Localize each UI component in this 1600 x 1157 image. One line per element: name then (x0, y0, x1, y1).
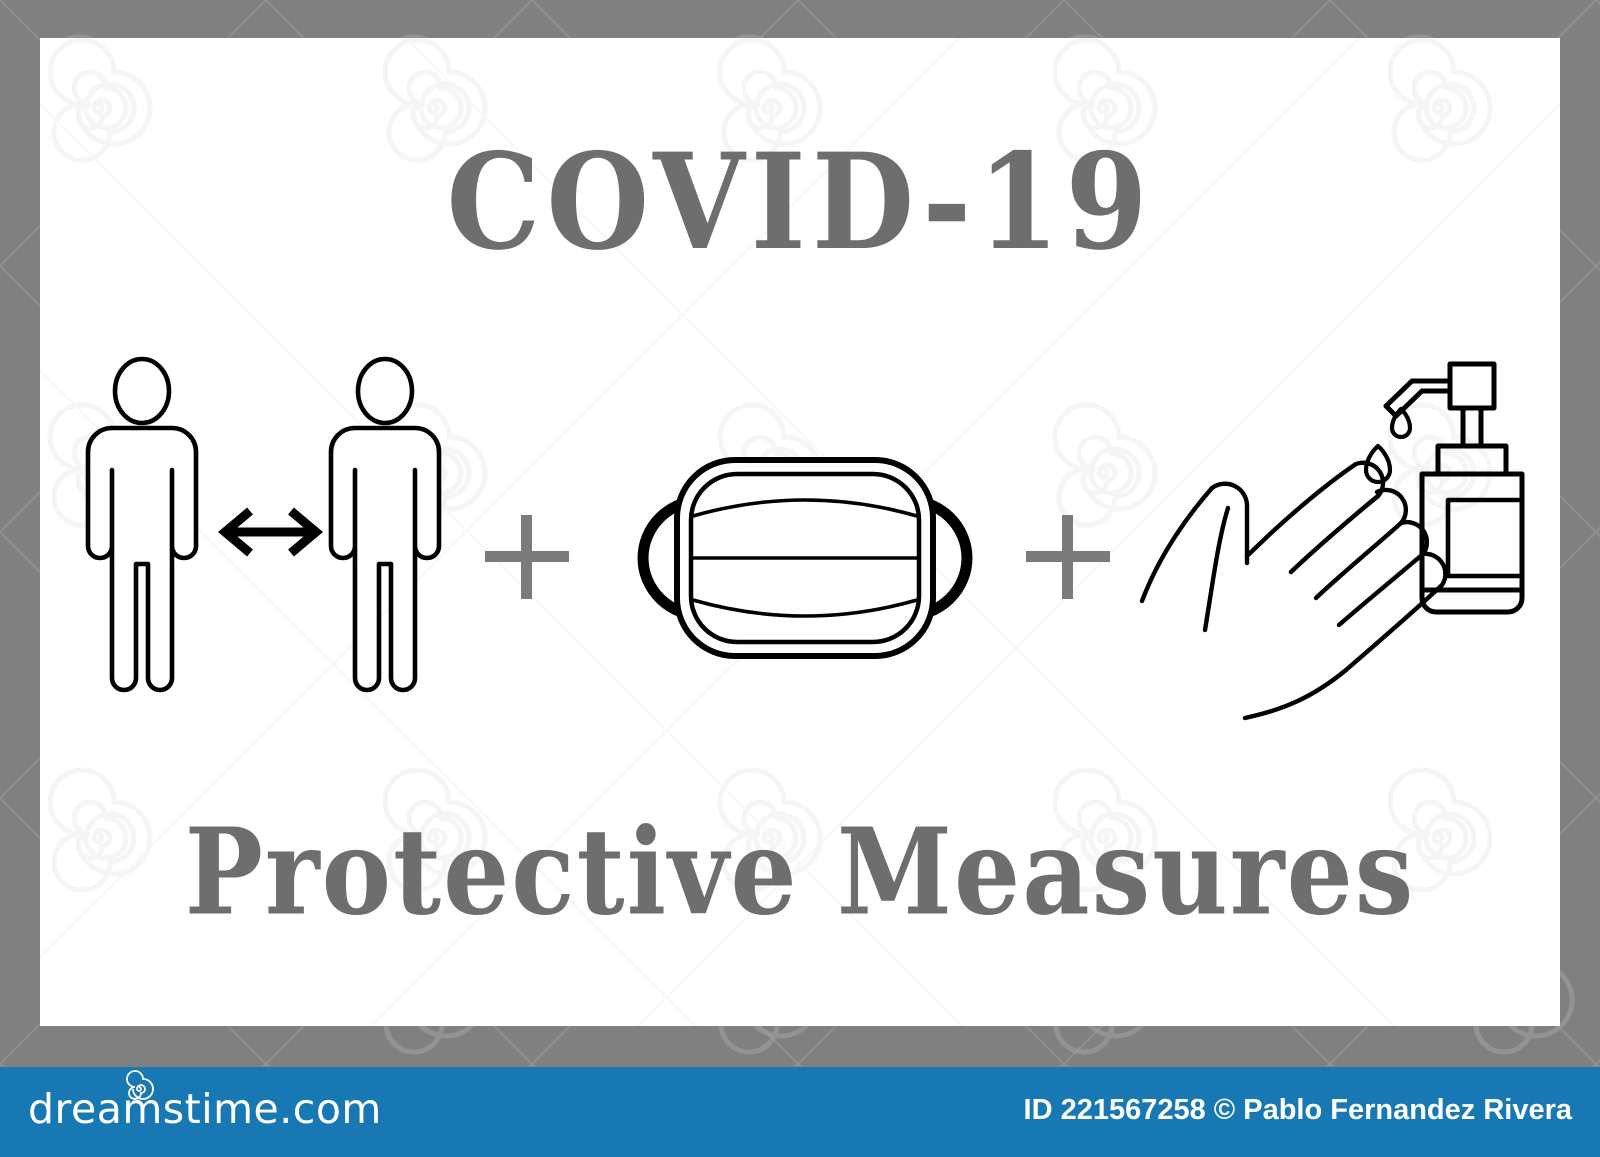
protective-measures-row (40, 338, 1560, 738)
social-distancing-icon (85, 348, 485, 708)
plus-bar-vertical (1062, 515, 1073, 599)
plus-bar-vertical (521, 515, 532, 599)
page-subtitle: Protective Measures (40, 813, 1560, 932)
person-figure-right (331, 359, 439, 690)
sanitizer-droplets (1366, 409, 1410, 482)
plus-sign-2 (1026, 515, 1110, 599)
dreamstime-logo-text[interactable]: dreamstime.com (28, 1085, 382, 1133)
page-title: COVID-19 (40, 136, 1560, 268)
hand-outline (1142, 463, 1445, 718)
poster-panel: COVID-19 (40, 38, 1560, 1026)
hand-sanitizer-icon (1120, 348, 1520, 718)
stock-photo-canvas: COVID-19 (0, 0, 1600, 1157)
image-credit: ID 221567258 © Pablo Fernandez Rivera (1024, 1094, 1572, 1127)
dreamstime-spiral-icon (126, 1076, 152, 1102)
person-figure-left (88, 359, 196, 690)
plus-sign-1 (485, 515, 569, 599)
double-headed-arrow (225, 511, 316, 553)
sanitizer-bottle (1386, 364, 1522, 612)
face-mask-icon (605, 438, 1005, 678)
